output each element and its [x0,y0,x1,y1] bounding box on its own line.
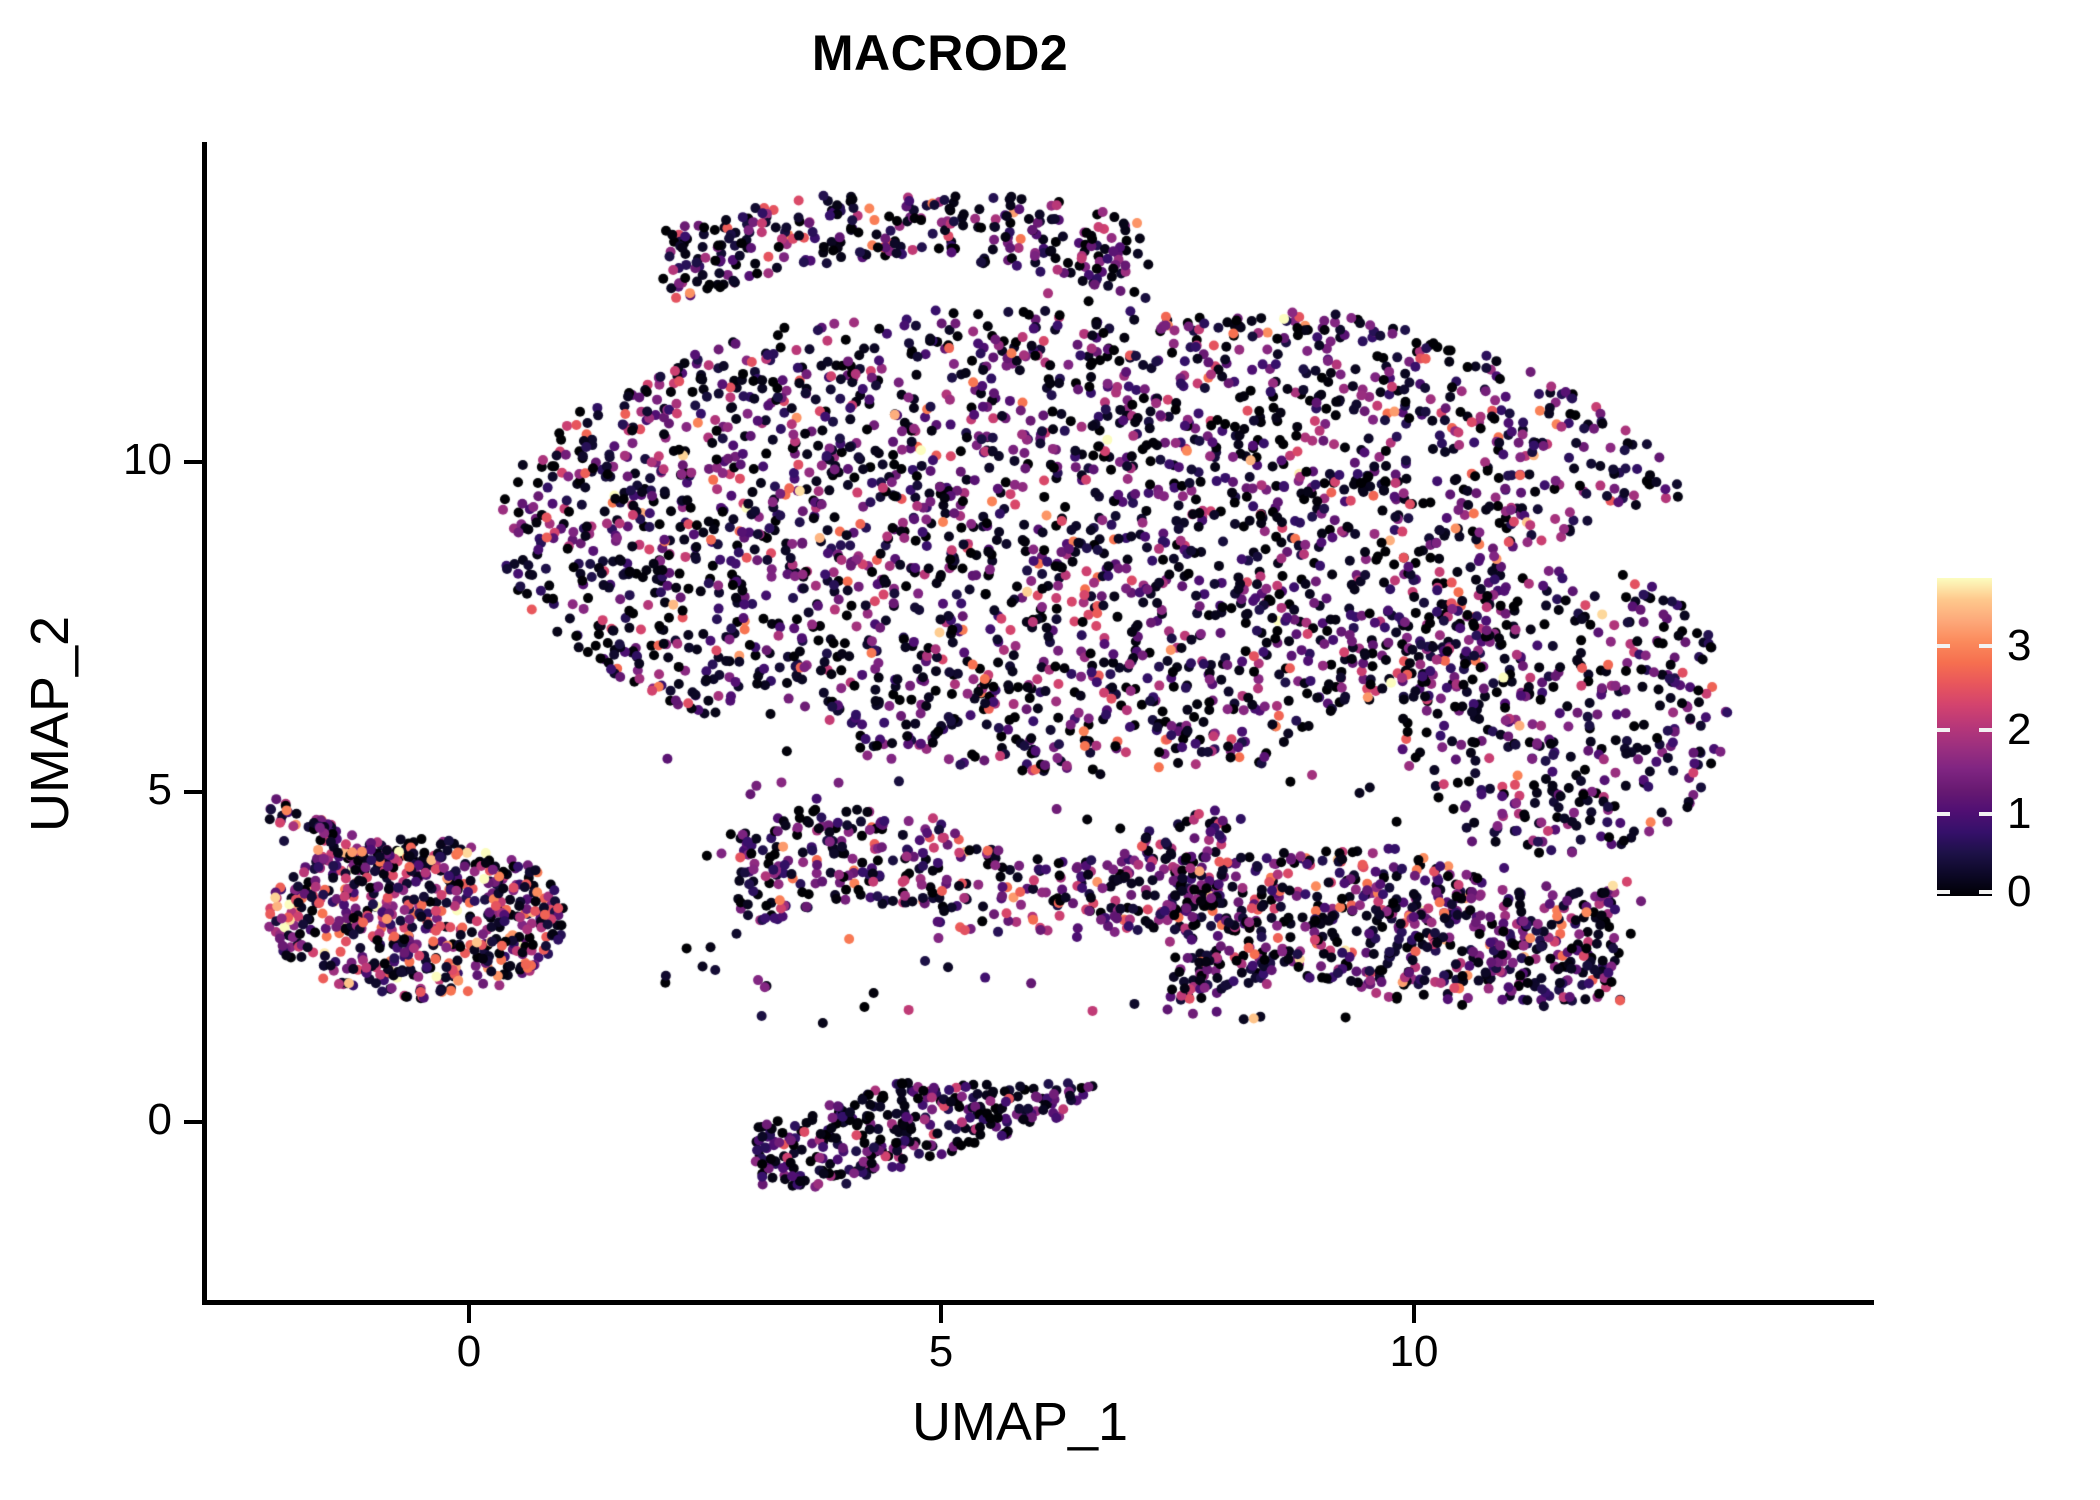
x-axis-title: UMAP_1 [0,1390,2080,1454]
colorbar-legend: 3 2 1 0 [1937,578,2097,898]
y-axis-title: UMAP_2 [18,374,82,1074]
x-tick-label-0: 0 [457,1330,481,1374]
colorbar-tick-3-right [1979,644,1992,648]
x-tick-label-5: 5 [929,1330,953,1374]
scatter-plot-canvas [206,142,1874,1303]
plot-panel [206,142,1874,1303]
y-axis-line [202,142,207,1305]
y-tick-mark-0 [184,1120,202,1124]
umap-feature-plot: MACROD2 10 5 0 0 5 10 UMAP_1 UMAP_2 3 2 … [0,0,2100,1500]
x-axis-title-text: UMAP_1 [912,1390,1128,1454]
page-title: MACROD2 [0,22,1880,84]
y-tick-label-10: 10 [123,438,172,482]
colorbar-tick-2-left [1937,728,1950,732]
colorbar-label-3: 3 [2007,624,2031,668]
x-tick-mark-0 [467,1305,471,1323]
colorbar-tick-1-right [1979,812,1992,816]
colorbar-tick-1-left [1937,812,1950,816]
colorbar-tick-0-right [1979,890,1992,894]
colorbar-tick-3-left [1937,644,1950,648]
y-tick-mark-10 [184,460,202,464]
x-tick-mark-5 [939,1305,943,1323]
y-tick-mark-5 [184,790,202,794]
x-tick-label-10: 10 [1390,1330,1439,1374]
colorbar-label-1: 1 [2007,792,2031,836]
y-tick-label-5: 5 [148,768,172,812]
colorbar-gradient [1937,578,1992,896]
x-tick-mark-10 [1412,1305,1416,1323]
colorbar-label-2: 2 [2007,708,2031,752]
x-axis-line [202,1300,1874,1305]
colorbar-tick-2-right [1979,728,1992,732]
colorbar-label-0: 0 [2007,870,2031,914]
y-tick-label-0: 0 [148,1098,172,1142]
colorbar-tick-0-left [1937,890,1950,894]
